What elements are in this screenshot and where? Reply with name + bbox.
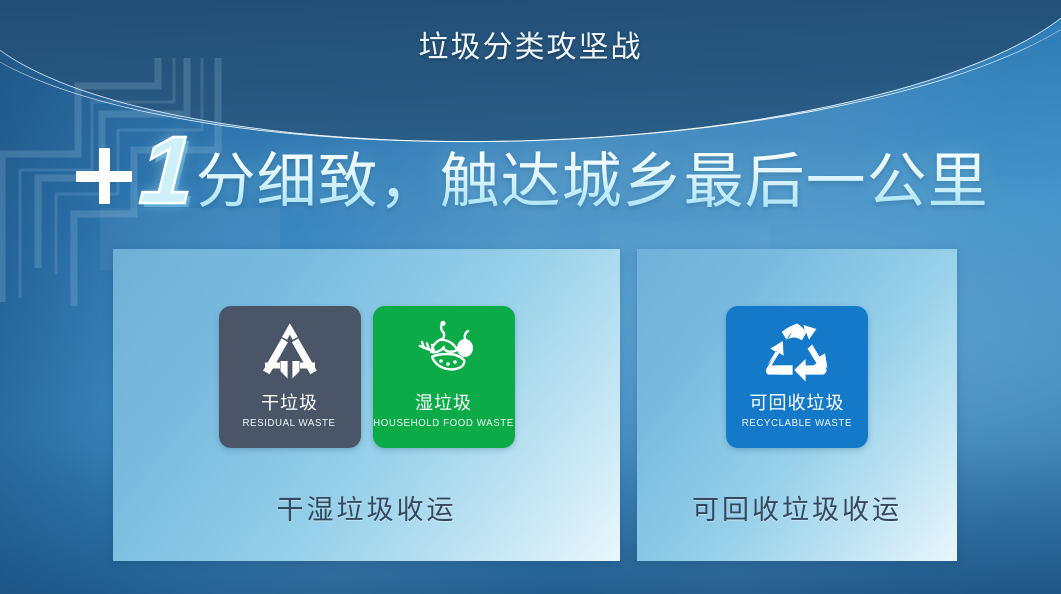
- tile-row: 可回收垃圾 RECYCLABLE WASTE: [726, 306, 868, 448]
- slide-canvas: 垃圾分类攻坚战 1 分细致，触达城乡最后一公里: [0, 0, 1061, 594]
- residual-waste-icon: [219, 312, 361, 392]
- tile-label-cn: 湿垃圾: [415, 394, 472, 412]
- card-inner: 可回收垃圾 RECYCLABLE WASTE 可回收垃圾收运: [637, 249, 957, 561]
- tile-residual-waste[interactable]: 干垃圾 RESIDUAL WASTE: [219, 306, 361, 448]
- recycle-icon: [726, 312, 868, 392]
- food-waste-icon: [373, 312, 515, 392]
- tile-household-food-waste[interactable]: 湿垃圾 HOUSEHOLD FOOD WASTE: [373, 306, 515, 448]
- headline: 1 分细致，触达城乡最后一公里: [0, 128, 1061, 224]
- tile-label-en: RESIDUAL WASTE: [243, 419, 336, 429]
- tile-label-cn: 可回收垃圾: [750, 394, 845, 412]
- card-caption: 干湿垃圾收运: [277, 488, 457, 527]
- headline-text: 分细致，触达城乡最后一公里: [196, 133, 989, 220]
- card-caption: 可回收垃圾收运: [692, 488, 902, 527]
- headline-number: 1: [138, 129, 196, 213]
- tile-row: 干垃圾 RESIDUAL WASTE: [219, 306, 515, 448]
- tile-label-cn: 干垃圾: [261, 394, 318, 412]
- tile-label-en: RECYCLABLE WASTE: [742, 419, 852, 429]
- tile-label-en: HOUSEHOLD FOOD WASTE: [373, 419, 514, 429]
- card-recyclable-waste-collection[interactable]: 可回收垃圾 RECYCLABLE WASTE 可回收垃圾收运: [637, 249, 957, 561]
- plus-icon: [72, 144, 136, 208]
- page-title: 垃圾分类攻坚战: [0, 22, 1061, 66]
- card-inner: 干垃圾 RESIDUAL WASTE: [113, 249, 620, 561]
- tile-recyclable-waste[interactable]: 可回收垃圾 RECYCLABLE WASTE: [726, 306, 868, 448]
- card-dry-wet-waste-collection[interactable]: 干垃圾 RESIDUAL WASTE: [113, 249, 620, 561]
